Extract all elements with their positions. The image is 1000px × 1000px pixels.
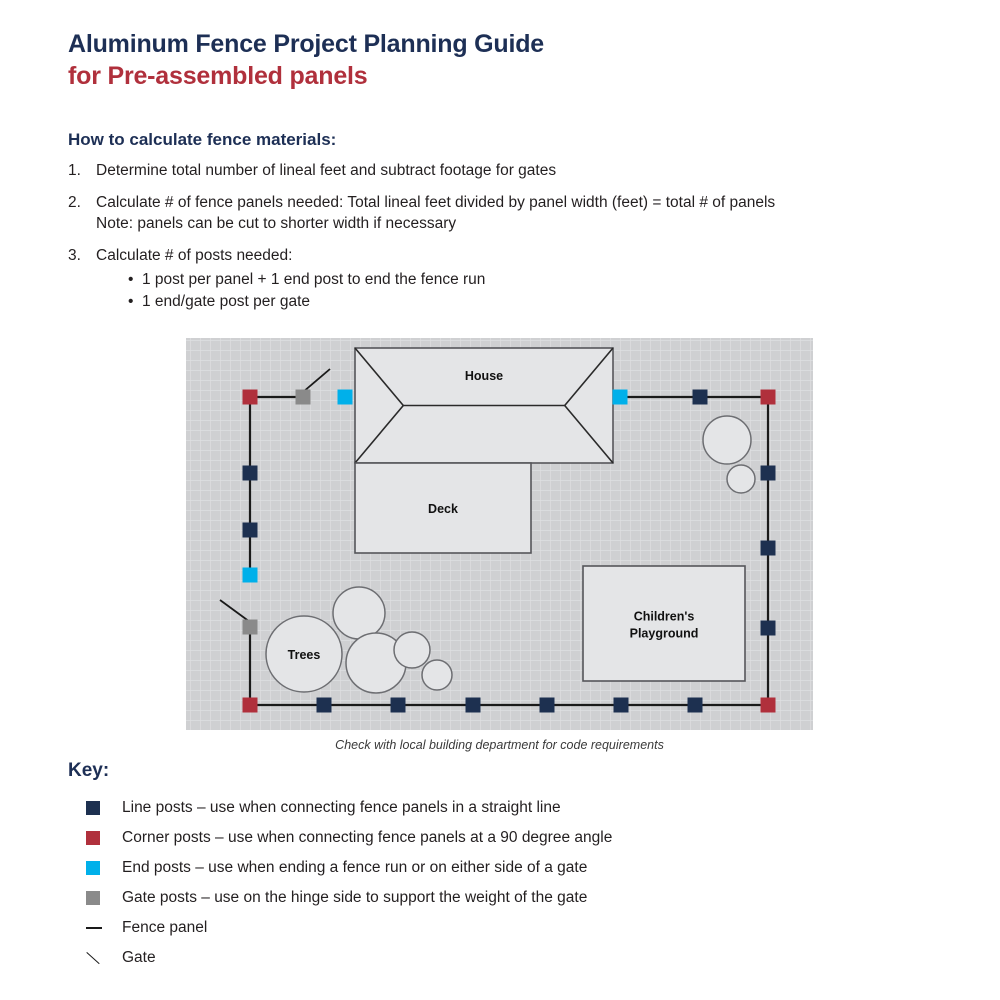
- line-post-marker[interactable]: [688, 698, 703, 713]
- structure-deck: Deck: [355, 463, 531, 553]
- page-root: Aluminum Fence Project Planning Guide fo…: [0, 0, 1000, 1000]
- tree-circle-6: [727, 465, 755, 493]
- gate-post-marker[interactable]: [243, 620, 258, 635]
- step-body: Determine total number of lineal feet an…: [96, 160, 938, 181]
- key-item-label: Fence panel: [122, 919, 946, 937]
- key-heading: Key:: [68, 760, 109, 782]
- key-swatch-cell: [86, 861, 122, 875]
- yard-plan-diagram: HouseDeckChildren'sPlaygroundTrees: [186, 338, 813, 730]
- line-post-marker[interactable]: [693, 390, 708, 405]
- line-post-marker[interactable]: [761, 466, 776, 481]
- corner-post-marker[interactable]: [243, 698, 258, 713]
- corner-post-marker[interactable]: [761, 390, 776, 405]
- end-post-marker[interactable]: [243, 568, 258, 583]
- step-subitem: •1 post per panel + 1 end post to end th…: [128, 269, 938, 291]
- step-number: 1.: [68, 160, 96, 181]
- step-subitem-text: 1 end/gate post per gate: [142, 291, 310, 313]
- corner-post-marker[interactable]: [243, 390, 258, 405]
- line-post-marker[interactable]: [761, 621, 776, 636]
- end-post-swatch: [86, 861, 100, 875]
- corner-post-swatch: [86, 831, 100, 845]
- gate-post-marker[interactable]: [296, 390, 311, 405]
- key-swatch-cell: [86, 801, 122, 815]
- howto-steps-list: 1.Determine total number of lineal feet …: [68, 160, 938, 324]
- key-item: Gate posts – use on the hinge side to su…: [86, 883, 946, 913]
- key-swatch-cell: [86, 831, 122, 845]
- structure-house: House: [355, 348, 613, 463]
- line-post-marker[interactable]: [243, 523, 258, 538]
- key-swatch-cell: [86, 891, 122, 905]
- deck-label: Deck: [428, 502, 458, 516]
- bullet-icon: •: [128, 269, 142, 291]
- tree-circle-5: [703, 416, 751, 464]
- key-item-label: Gate posts – use on the hinge side to su…: [122, 889, 946, 907]
- fence-panel-line: [86, 927, 102, 929]
- key-swatch-cell: [86, 951, 122, 965]
- howto-step: 2.Calculate # of fence panels needed: To…: [68, 192, 938, 234]
- key-item: Line posts – use when connecting fence p…: [86, 793, 946, 823]
- step-text: Calculate # of fence panels needed: Tota…: [96, 194, 775, 211]
- key-item-label: Line posts – use when connecting fence p…: [122, 799, 946, 817]
- line-post-marker[interactable]: [317, 698, 332, 713]
- step-text: Calculate # of posts needed:: [96, 247, 292, 264]
- key-item: Corner posts – use when connecting fence…: [86, 823, 946, 853]
- key-item-label: End posts – use when ending a fence run …: [122, 859, 946, 877]
- step-body: Calculate # of posts needed:•1 post per …: [96, 245, 938, 313]
- line-post-marker[interactable]: [391, 698, 406, 713]
- key-item-label: Corner posts – use when connecting fence…: [122, 829, 946, 847]
- line-post-marker[interactable]: [540, 698, 555, 713]
- line-post-marker[interactable]: [243, 466, 258, 481]
- step-text: Determine total number of lineal feet an…: [96, 162, 556, 179]
- bullet-icon: •: [128, 291, 142, 313]
- step-number: 3.: [68, 245, 96, 313]
- gate-diagonal-line: [86, 951, 102, 965]
- line-post-swatch: [86, 801, 100, 815]
- key-legend-list: Line posts – use when connecting fence p…: [86, 793, 946, 973]
- tree-circle-3: [394, 632, 430, 668]
- trees-label: Trees: [288, 648, 321, 662]
- gate-post-swatch: [86, 891, 100, 905]
- title-line-1: Aluminum Fence Project Planning Guide: [68, 28, 544, 60]
- step-subitem-text: 1 post per panel + 1 end post to end the…: [142, 269, 485, 291]
- step-subitem: •1 end/gate post per gate: [128, 291, 938, 313]
- line-post-marker[interactable]: [466, 698, 481, 713]
- howto-heading: How to calculate fence materials:: [68, 130, 336, 150]
- key-item: End posts – use when ending a fence run …: [86, 853, 946, 883]
- step-sublist: •1 post per panel + 1 end post to end th…: [96, 269, 938, 313]
- tree-circle-4: [422, 660, 452, 690]
- key-item: Gate: [86, 943, 946, 973]
- howto-step: 3.Calculate # of posts needed:•1 post pe…: [68, 245, 938, 313]
- end-post-marker[interactable]: [338, 390, 353, 405]
- key-swatch-cell: [86, 927, 122, 929]
- step-number: 2.: [68, 192, 96, 234]
- step-note: Note: panels can be cut to shorter width…: [96, 213, 938, 234]
- diagram-canvas: HouseDeckChildren'sPlaygroundTrees: [186, 338, 813, 730]
- playground-label: Children's: [634, 610, 695, 624]
- title-line-2: for Pre-assembled panels: [68, 60, 544, 92]
- line-post-marker[interactable]: [614, 698, 629, 713]
- playground-label-2: Playground: [630, 627, 699, 641]
- house-label: House: [465, 369, 503, 383]
- diagram-caption: Check with local building department for…: [186, 738, 813, 752]
- howto-step: 1.Determine total number of lineal feet …: [68, 160, 938, 181]
- key-item-label: Gate: [122, 949, 946, 967]
- key-item: Fence panel: [86, 913, 946, 943]
- page-title: Aluminum Fence Project Planning Guide fo…: [68, 28, 544, 92]
- corner-post-marker[interactable]: [761, 698, 776, 713]
- structure-playground: Children'sPlayground: [583, 566, 745, 681]
- tree-circle-1: [333, 587, 385, 639]
- playground-outline: [583, 566, 745, 681]
- line-post-marker[interactable]: [761, 541, 776, 556]
- step-body: Calculate # of fence panels needed: Tota…: [96, 192, 938, 234]
- end-post-marker[interactable]: [613, 390, 628, 405]
